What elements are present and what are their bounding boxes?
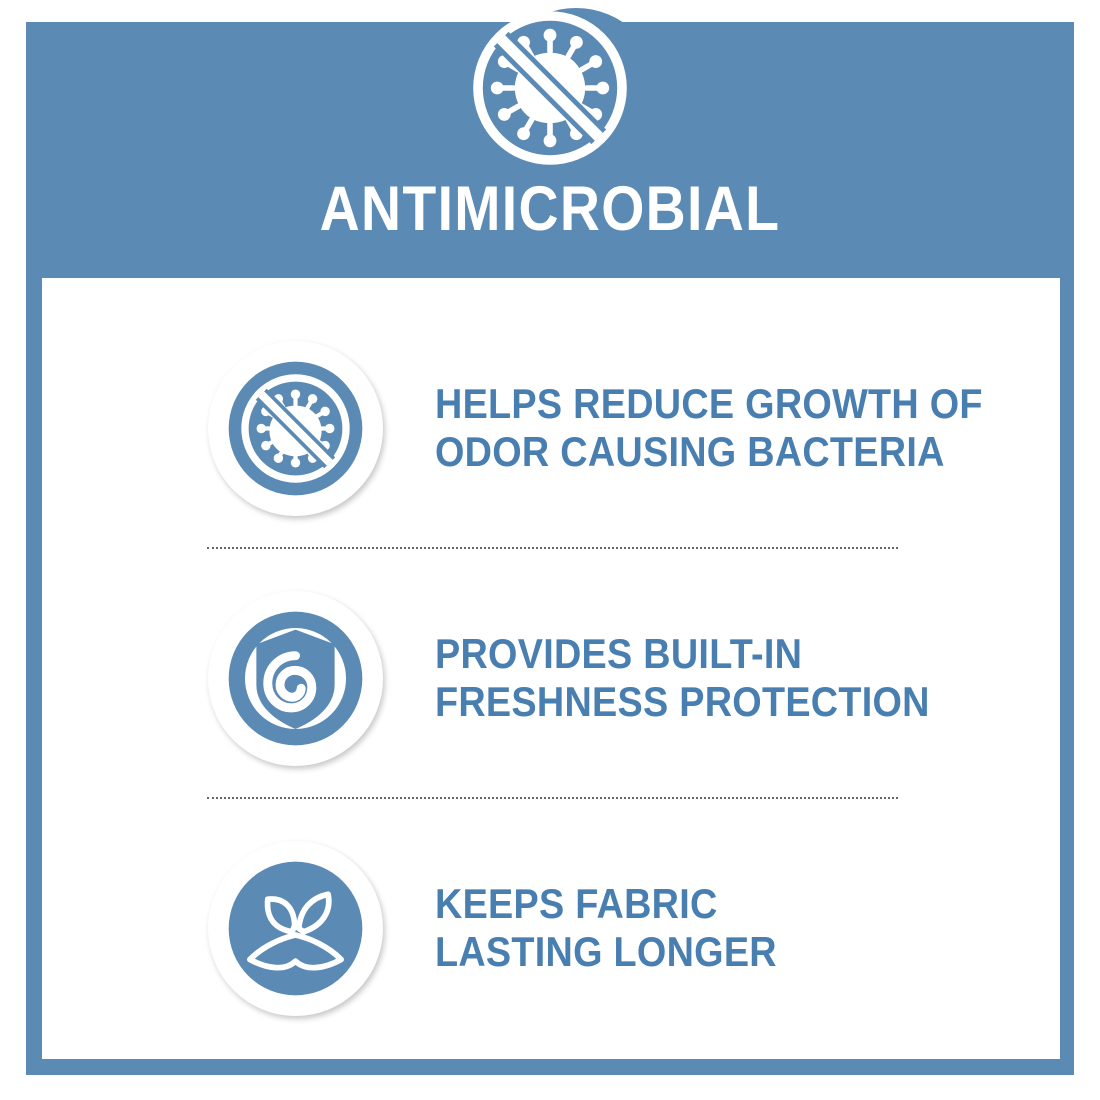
feature-icon-wrap: [208, 341, 383, 516]
no-germ-icon: [470, 8, 630, 168]
page-title: ANTIMICROBIAL: [66, 178, 1034, 241]
feature-row: KEEPS FABRIC LASTING LONGER: [42, 833, 1060, 1023]
no-germ-icon: [208, 341, 383, 516]
feature-row: HELPS REDUCE GROWTH OF ODOR CAUSING BACT…: [42, 333, 1060, 523]
row-divider: [207, 797, 898, 799]
feature-icon-wrap: [208, 591, 383, 766]
feature-label: KEEPS FABRIC LASTING LONGER: [435, 880, 777, 976]
row-divider: [207, 547, 898, 549]
shield-freshness-icon: [208, 591, 383, 766]
feature-row: PROVIDES BUILT-IN FRESHNESS PROTECTION: [42, 583, 1060, 773]
feature-icon-wrap: [208, 841, 383, 1016]
hero-header: ANTIMICROBIAL: [0, 0, 1100, 278]
infographic-canvas: ANTIMICROBIAL: [0, 0, 1100, 1100]
feature-label: HELPS REDUCE GROWTH OF ODOR CAUSING BACT…: [435, 380, 983, 476]
sprout-leaf-icon: [208, 841, 383, 1016]
feature-label: PROVIDES BUILT-IN FRESHNESS PROTECTION: [435, 630, 930, 726]
